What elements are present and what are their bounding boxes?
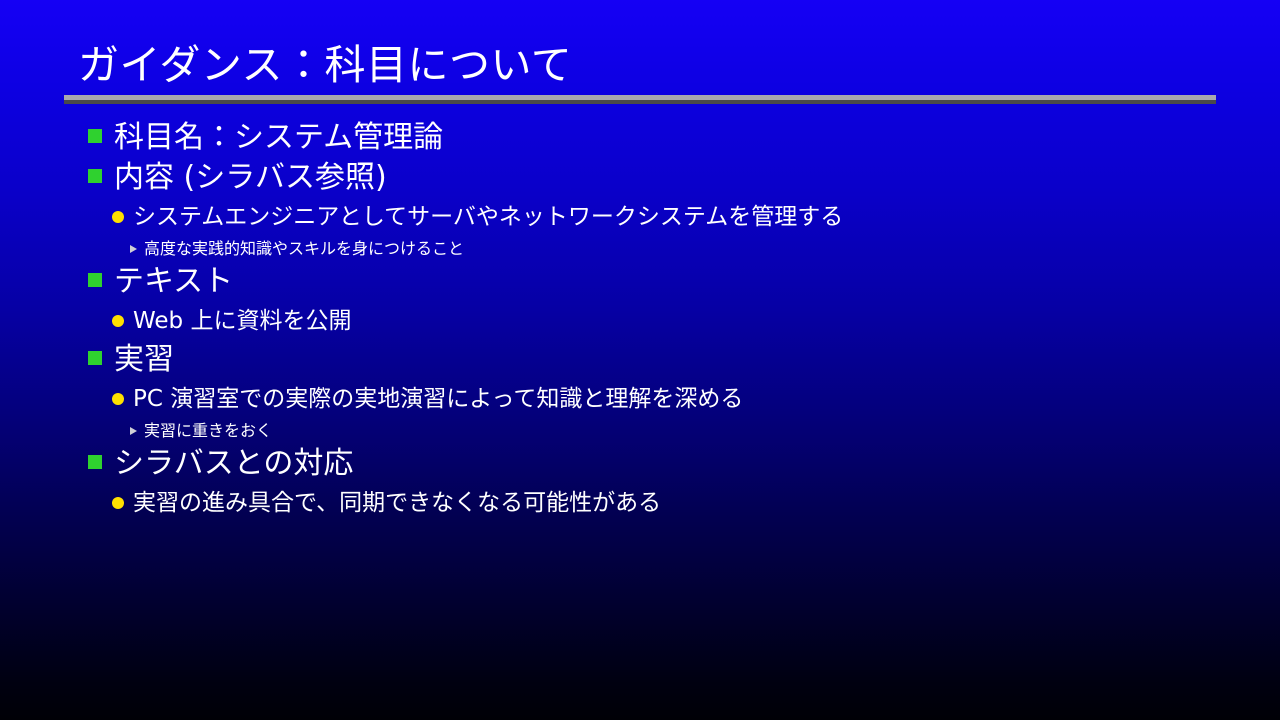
list-item-label: テキスト — [114, 262, 233, 302]
list-item-label: PC 演習室での実際の実地演習によって知識と理解を深める — [133, 380, 743, 418]
list-item: 内容 (シラバス参照) — [0, 158, 1280, 198]
list-item: PC 演習室での実際の実地演習によって知識と理解を深める — [0, 380, 1280, 418]
list-item-label: 科目名：システム管理論 — [114, 118, 443, 158]
circle-bullet-icon — [112, 393, 124, 405]
square-bullet-icon — [88, 169, 102, 183]
list-item-label: 実習に重きをおく — [144, 418, 272, 444]
list-item-label: 高度な実践的知識やスキルを身につけること — [144, 236, 464, 262]
page-title: ガイダンス：科目について — [0, 40, 1280, 90]
title-divider-shadow — [64, 100, 1216, 104]
list-item-label: 内容 (シラバス参照) — [114, 158, 387, 198]
list-item: シラバスとの対応 — [0, 444, 1280, 484]
list-item: システムエンジニアとしてサーバやネットワークシステムを管理する — [0, 198, 1280, 236]
triangle-bullet-icon — [130, 245, 137, 253]
circle-bullet-icon — [112, 315, 124, 327]
list-item: 実習 — [0, 340, 1280, 380]
square-bullet-icon — [88, 129, 102, 143]
list-item-label: Web 上に資料を公開 — [133, 302, 351, 340]
slide-title-block: ガイダンス：科目について — [0, 40, 1280, 90]
list-item: 実習の進み具合で、同期できなくなる可能性がある — [0, 484, 1280, 522]
list-item: 高度な実践的知識やスキルを身につけること — [0, 236, 1280, 262]
list-item-label: 実習 — [114, 340, 174, 380]
title-divider — [64, 95, 1216, 104]
slide-bullet-list: 科目名：システム管理論 内容 (シラバス参照) システムエンジニアとしてサーバや… — [0, 118, 1280, 522]
list-item: テキスト — [0, 262, 1280, 302]
list-item: Web 上に資料を公開 — [0, 302, 1280, 340]
presentation-slide: ガイダンス：科目について 科目名：システム管理論 内容 (シラバス参照) システ… — [0, 0, 1280, 720]
circle-bullet-icon — [112, 497, 124, 509]
triangle-bullet-icon — [130, 427, 137, 435]
list-item: 実習に重きをおく — [0, 418, 1280, 444]
square-bullet-icon — [88, 455, 102, 469]
list-item-label: 実習の進み具合で、同期できなくなる可能性がある — [133, 484, 661, 522]
list-item: 科目名：システム管理論 — [0, 118, 1280, 158]
square-bullet-icon — [88, 351, 102, 365]
square-bullet-icon — [88, 273, 102, 287]
circle-bullet-icon — [112, 211, 124, 223]
list-item-label: シラバスとの対応 — [114, 444, 353, 484]
list-item-label: システムエンジニアとしてサーバやネットワークシステムを管理する — [133, 198, 843, 236]
